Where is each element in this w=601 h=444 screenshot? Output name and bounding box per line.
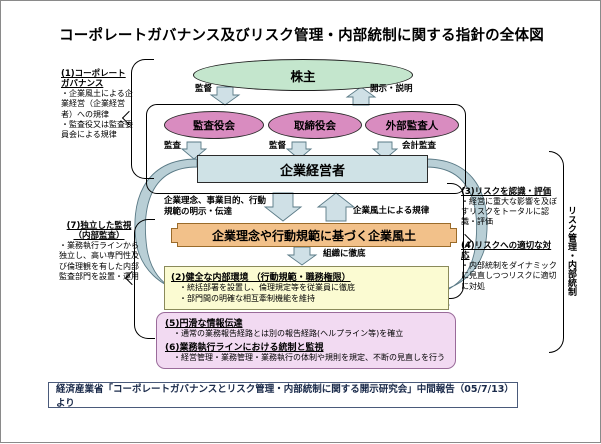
corporate-manager-box: 企業経営者 <box>197 155 428 183</box>
note-risk-response: (4)リスクへの適切な対応 ・内部統制をダイナミックに見直しつつリスクに適切に対… <box>461 241 557 292</box>
note-governance: (1)コーポレートガバナンス ・企業風土による企業経営（企業経営者）への規律 ・… <box>61 69 133 140</box>
internal-environment-heading: (2)健全な内部環境 （行動規範・職務権限） <box>171 270 442 283</box>
corporate-culture-banner: 企業理念や行動規範に基づく企業風土 <box>177 223 451 247</box>
note-governance-heading: (1)コーポレートガバナンス <box>61 69 133 89</box>
internal-environment-item-0: ・統括部署を設置し、倫理規定等を従業員に徹底 <box>179 283 442 294</box>
label-culture-discipline: 企業風土による規律 <box>353 206 429 216</box>
note-internal-audit-heading: (7)独立した監視（内部監査） <box>59 221 139 241</box>
note-internal-audit-item-0: ・業務執行ラインから独立し、高い専門性及び倫理観を有した内部監査部門を設置・運用 <box>59 241 139 282</box>
internal-environment-item-1: ・部門間の明確な相互牽制機能を維持 <box>179 294 442 305</box>
note-risk-recognition-item-0: ・経営に重大な影響を及ぼすリスクをトータルに認識・評価 <box>461 197 557 228</box>
note-internal-audit: (7)独立した監視（内部監査） ・業務執行ラインから独立し、高い専門性及び倫理観… <box>59 221 139 282</box>
organ-board-of-directors: 取締役会 <box>268 111 362 139</box>
note-risk-recognition: (3)リスクを認識・評価 ・経営に重大な影響を及ぼすリスクをトータルに認識・評価 <box>461 187 557 228</box>
label-supervision-top: 監督 <box>195 84 212 94</box>
organ-external-auditor: 外部監査人 <box>365 111 459 139</box>
control-monitoring-heading: (6)業務執行ラインにおける統制と監視 <box>165 340 447 353</box>
block-arrow-down-philosophy <box>265 193 301 221</box>
block-arrow-down-supervision <box>211 87 239 105</box>
source-footnote: 経済産業省「コーポレートガバナンスとリスク管理・内部統制に関する開示研究会」中間… <box>48 382 518 408</box>
communication-item: ・通常の業務報告経路とは別の報告経路(ヘルプライン等)を確立 <box>173 329 447 340</box>
internal-environment-box: (2)健全な内部環境 （行動規範・職務権限） ・統括部署を設置し、倫理規定等を従… <box>164 266 449 310</box>
block-arrow-up-culture <box>318 193 354 221</box>
note-governance-item-1: ・監査役又は監査委員会による規律 <box>61 120 133 140</box>
note-governance-item-0: ・企業風土による企業経営（企業経営者）への規律 <box>61 89 133 120</box>
vertical-label-risk-management: リスク管理・内部統制 <box>564 206 578 296</box>
label-oversight: 監督 <box>269 141 286 151</box>
communication-heading: (5)円滑な情報伝達 <box>165 316 447 329</box>
block-arrow-down-permeate <box>288 247 316 265</box>
label-audit: 監査 <box>164 141 181 151</box>
note-risk-recognition-heading: (3)リスクを認識・評価 <box>461 187 557 197</box>
communication-and-control-box: (5)円滑な情報伝達 ・通常の業務報告経路とは別の報告経路(ヘルプライン等)を確… <box>156 312 456 369</box>
label-permeate-organization: 組織に徹底 <box>323 249 366 259</box>
diagram-canvas: コーポレートガバナンス及びリスク管理・内部統制に関する指針の全体図 .ar{fi… <box>0 0 601 443</box>
label-philosophy-transmission: 企業理念、事業目的、行動規範の明示・伝達 <box>164 196 269 218</box>
note-risk-response-heading: (4)リスクへの適切な対応 <box>461 241 557 261</box>
organ-auditors-board: 監査役会 <box>164 111 264 139</box>
page-title: コーポレートガバナンス及びリスク管理・内部統制に関する指針の全体図 <box>1 28 601 45</box>
label-accounting-audit: 会計監査 <box>402 141 436 151</box>
note-risk-response-item-0: ・内部統制をダイナミックに見直しつつリスクに適切に対処 <box>461 261 557 292</box>
label-disclosure: 開示・説明 <box>370 84 413 94</box>
control-monitoring-item: ・経営管理・業務管理・業務執行の体制や規則を規定、不断の見直しを行う <box>173 353 447 364</box>
